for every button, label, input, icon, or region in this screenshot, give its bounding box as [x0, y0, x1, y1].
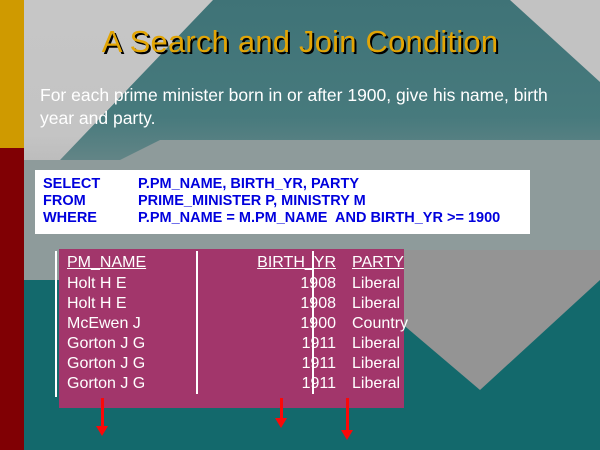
column-header-birth-yr: BIRTH_YR — [212, 253, 344, 274]
sql-keyword-from: FROM — [43, 193, 138, 210]
table-header-row: PM_NAME BIRTH_YR PARTY — [59, 253, 452, 274]
cell-pm-name: Gorton J G — [59, 334, 212, 354]
table-row: Gorton J G 1911 Liberal — [59, 374, 452, 394]
cell-birth-yr: 1911 — [212, 374, 344, 394]
sql-query-box: SELECT P.PM_NAME, BIRTH_YR, PARTY FROM P… — [35, 170, 530, 234]
page-title: A Search and Join Condition — [0, 24, 600, 60]
cell-party: Liberal — [344, 274, 452, 294]
sql-line-select: SELECT P.PM_NAME, BIRTH_YR, PARTY — [43, 176, 522, 193]
column-header-pm-name: PM_NAME — [59, 253, 212, 274]
arrow-down-icon-party — [341, 398, 354, 440]
result-column-divider-1 — [196, 251, 198, 394]
sql-clause-where: P.PM_NAME = M.PM_NAME AND BIRTH_YR >= 19… — [138, 210, 522, 227]
column-header-party: PARTY — [344, 253, 452, 274]
table-row: Gorton J G 1911 Liberal — [59, 354, 452, 374]
arrow-shaft — [346, 398, 349, 431]
arrow-shaft — [101, 398, 104, 427]
sql-clause-from: PRIME_MINISTER P, MINISTRY M — [138, 193, 522, 210]
table-row: Holt H E 1908 Liberal — [59, 274, 452, 294]
cell-party: Liberal — [344, 354, 452, 374]
result-column-divider-2 — [312, 251, 314, 394]
left-accent-bar-gold — [0, 0, 24, 148]
sql-clause-select: P.PM_NAME, BIRTH_YR, PARTY — [138, 176, 522, 193]
cell-pm-name: McEwen J — [59, 314, 212, 334]
result-left-rule — [55, 251, 57, 397]
sql-keyword-select: SELECT — [43, 176, 138, 193]
cell-party: Liberal — [344, 374, 452, 394]
arrow-down-icon-birth-yr — [275, 398, 288, 428]
arrow-head — [275, 418, 287, 428]
cell-party: Liberal — [344, 334, 452, 354]
cell-birth-yr: 1911 — [212, 334, 344, 354]
question-text: For each prime minister born in or after… — [40, 84, 585, 130]
cell-pm-name: Holt H E — [59, 274, 212, 294]
cell-party: Country — [344, 314, 452, 334]
cell-pm-name: Gorton J G — [59, 374, 212, 394]
sql-line-where: WHERE P.PM_NAME = M.PM_NAME AND BIRTH_YR… — [43, 210, 522, 227]
cell-birth-yr: 1908 — [212, 274, 344, 294]
cell-party: Liberal — [344, 294, 452, 314]
cell-pm-name: Gorton J G — [59, 354, 212, 374]
arrow-head — [341, 430, 353, 440]
sql-keyword-where: WHERE — [43, 210, 138, 227]
arrow-shaft — [280, 398, 283, 419]
result-set-panel: PM_NAME BIRTH_YR PARTY Holt H E 1908 Lib… — [59, 249, 404, 408]
table-row: Holt H E 1908 Liberal — [59, 294, 452, 314]
cell-birth-yr: 1900 — [212, 314, 344, 334]
cell-birth-yr: 1911 — [212, 354, 344, 374]
result-table: PM_NAME BIRTH_YR PARTY Holt H E 1908 Lib… — [59, 253, 452, 394]
arrow-head — [96, 426, 108, 436]
cell-birth-yr: 1908 — [212, 294, 344, 314]
table-row: McEwen J 1900 Country — [59, 314, 452, 334]
sql-line-from: FROM PRIME_MINISTER P, MINISTRY M — [43, 193, 522, 210]
slide: A Search and Join Condition For each pri… — [0, 0, 600, 450]
cell-pm-name: Holt H E — [59, 294, 212, 314]
left-accent-bar-red — [0, 148, 24, 450]
arrow-down-icon-pm-name — [96, 398, 109, 436]
table-row: Gorton J G 1911 Liberal — [59, 334, 452, 354]
